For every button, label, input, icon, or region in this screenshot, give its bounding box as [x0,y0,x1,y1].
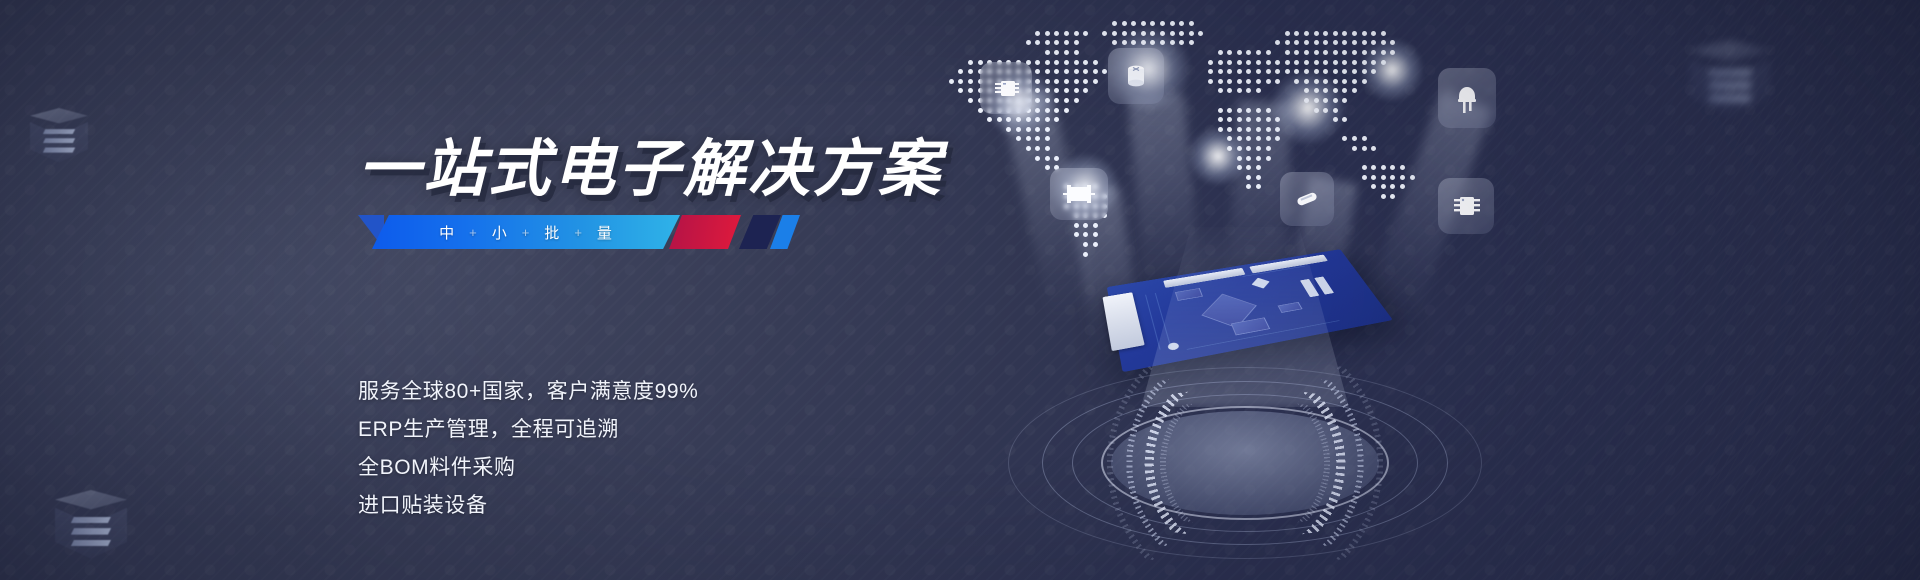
feature-list: 服务全球80+国家，客户满意度99% ERP生产管理，全程可追溯 全BOM料件采… [358,373,698,525]
ribbon-separator: + [574,225,583,240]
ribbon-red-slash [669,215,741,249]
list-item: 进口贴装设备 [358,487,698,525]
ribbon-text: 中 + 小 + 批 + 量 [439,222,613,243]
page-title: 一站式电子解决方案 [358,118,943,208]
ribbon-item-3: 量 [597,222,613,243]
ribbon-badge: 中 + 小 + 批 + 量 [358,215,778,249]
list-item: ERP生产管理，全程可追溯 [358,411,698,449]
vignette-overlay [0,0,1920,580]
ribbon-separator: + [469,225,478,240]
ribbon-separator: + [522,225,531,240]
list-item: 全BOM料件采购 [358,449,698,487]
ribbon-item-1: 小 [492,222,508,243]
ribbon-item-2: 批 [544,222,560,243]
ribbon-main-bar: 中 + 小 + 批 + 量 [372,215,680,249]
ribbon-item-0: 中 [439,222,455,243]
list-item: 服务全球80+国家，客户满意度99% [358,373,698,411]
hero-banner: (function(){ /* coarse dot-matrix contin… [0,0,1920,580]
